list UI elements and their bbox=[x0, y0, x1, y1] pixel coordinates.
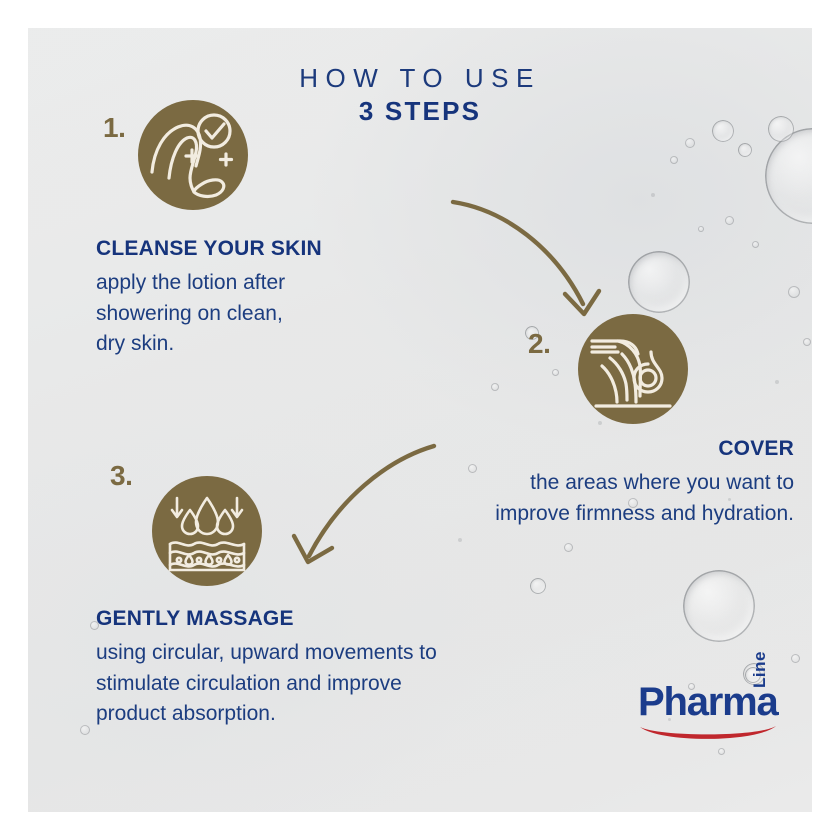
hand-applying-lotion-icon bbox=[578, 314, 688, 424]
step-2-text-block: COVER the areas where you want to improv… bbox=[344, 436, 794, 529]
step-3-icon-circle bbox=[152, 476, 262, 586]
bubble-speck bbox=[651, 193, 655, 197]
bubble-icon bbox=[628, 251, 690, 313]
logo-wordmark: Pharma bbox=[638, 682, 778, 722]
infographic-poster: HOW TO USE 3 STEPS 1. CLEANSE YOUR SKIN bbox=[28, 28, 812, 812]
header: HOW TO USE 3 STEPS bbox=[28, 64, 812, 129]
bubble-icon bbox=[670, 156, 678, 164]
bubble-speck bbox=[458, 538, 462, 542]
step-1-heading: CLEANSE YOUR SKIN bbox=[96, 236, 426, 262]
step-3-body: using circular, upward movements to stim… bbox=[96, 638, 616, 729]
step-2-icon-circle bbox=[578, 314, 688, 424]
bubble-icon bbox=[564, 543, 573, 552]
bubble-icon bbox=[765, 128, 812, 224]
bubble-icon bbox=[725, 216, 734, 225]
step-2-number: 2. bbox=[528, 328, 550, 360]
step-3-text-block: GENTLY MASSAGE using circular, upward mo… bbox=[96, 606, 616, 730]
bubble-icon bbox=[685, 138, 695, 148]
bubble-icon bbox=[491, 383, 499, 391]
bubble-speck bbox=[775, 380, 779, 384]
bubble-icon bbox=[80, 725, 90, 735]
step-2-heading: COVER bbox=[344, 436, 794, 462]
bubble-icon bbox=[698, 226, 704, 232]
page-title-line-1: HOW TO USE bbox=[28, 64, 812, 94]
droplets-absorbing-skin-layers-icon bbox=[152, 476, 262, 586]
logo-suffix: Line bbox=[750, 651, 770, 688]
step-3-heading: GENTLY MASSAGE bbox=[96, 606, 616, 632]
bubble-icon bbox=[752, 241, 759, 248]
bubble-icon bbox=[530, 578, 546, 594]
bubble-icon bbox=[788, 286, 800, 298]
bubble-icon bbox=[803, 338, 811, 346]
bubble-icon bbox=[552, 369, 559, 376]
page-title-line-2: 3 STEPS bbox=[28, 94, 812, 129]
bubble-icon bbox=[738, 143, 752, 157]
bubble-icon bbox=[683, 570, 755, 642]
step-3-number: 3. bbox=[110, 460, 132, 492]
pharmaline-logo: Pharma Line bbox=[638, 676, 790, 754]
step-1-text-block: CLEANSE YOUR SKIN apply the lotion after… bbox=[96, 236, 426, 360]
logo-red-swoosh bbox=[638, 724, 778, 746]
step-1-number: 1. bbox=[103, 112, 125, 144]
bubble-icon bbox=[791, 654, 800, 663]
step-1-body: apply the lotion after showering on clea… bbox=[96, 268, 426, 359]
step-2-body: the areas where you want to improve firm… bbox=[344, 468, 794, 529]
